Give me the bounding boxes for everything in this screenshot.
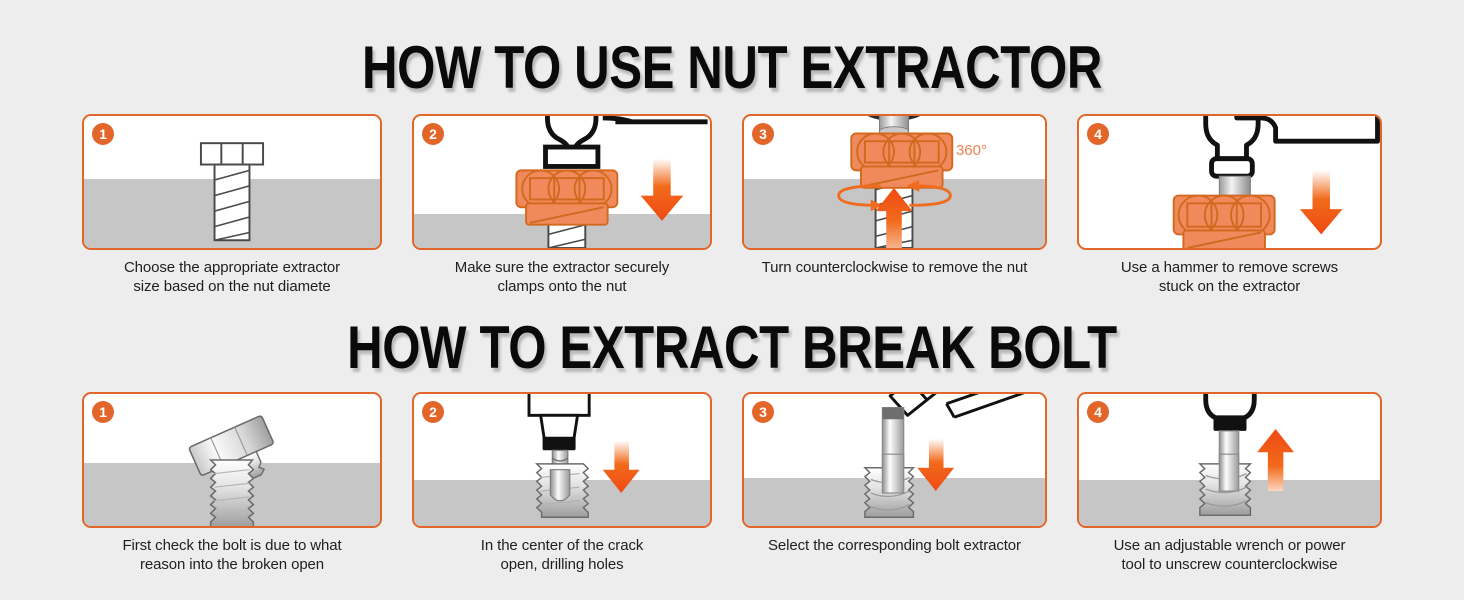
step-badge-4: 4 [1087,401,1109,423]
section-title-nut-extractor: HOW TO USE NUT EXTRACTOR [132,0,1332,98]
step-card-nut-1: 1 [82,114,382,297]
caption-line: clamps onto the nut [455,278,669,297]
extractor-socket-icon [516,170,617,224]
down-arrow-icon [1300,170,1343,234]
step-badge-3: 3 [752,401,774,423]
caption-line: stuck on the extractor [1121,278,1338,297]
step-illustration-nut-1: 1 [82,114,382,250]
bolt-extractor-icon [744,394,1045,526]
caption-line: size based on the nut diamete [124,278,340,297]
caption-line: Use an adjustable wrench or power [1114,537,1346,556]
step-badge-2: 2 [422,401,444,423]
panel-row-nut: 1 [0,114,1464,297]
step-caption-nut-3: Turn counterclockwise to remove the nut [762,259,1028,278]
caption-line: In the center of the crack [481,537,644,556]
step-card-bolt-1: 1 [82,392,382,575]
extractor-socket-icon [851,133,952,187]
down-arrow-icon [917,439,954,491]
step-illustration-bolt-1: 1 [82,392,382,528]
step-badge-1: 1 [92,401,114,423]
bolt-in-material-icon [84,116,380,248]
step-illustration-nut-4: 4 [1077,114,1382,250]
caption-line: Turn counterclockwise to remove the nut [762,259,1028,278]
step-card-nut-3: 3 360° [742,114,1047,297]
step-caption-nut-1: Choose the appropriate extractor size ba… [124,259,340,297]
step-card-bolt-2: 2 [412,392,712,575]
broken-bolt-icon [84,394,380,526]
drill-chuck-icon [414,394,710,526]
step-illustration-bolt-3: 3 [742,392,1047,528]
step-badge-2: 2 [422,123,444,145]
step-caption-nut-4: Use a hammer to remove screws stuck on t… [1121,259,1338,297]
caption-line: Select the corresponding bolt extractor [768,537,1021,556]
step-card-nut-4: 4 [1077,114,1382,297]
caption-line: Make sure the extractor securely [455,259,669,278]
down-arrow-icon [603,441,640,493]
wrench-grip-icon [1079,394,1380,526]
step-caption-bolt-3: Select the corresponding bolt extractor [768,537,1021,556]
up-arrow-icon [1257,429,1294,491]
section-break-bolt: HOW TO EXTRACT BREAK BOLT 1 [0,310,1464,600]
step-card-bolt-4: 4 [1077,392,1382,575]
rotation-degree-label: 360° [956,142,987,159]
panel-row-bolt: 1 [0,392,1464,575]
step-badge-3: 3 [752,123,774,145]
step-caption-bolt-2: In the center of the crack open, drillin… [481,537,644,575]
caption-line: First check the bolt is due to what [122,537,341,556]
step-caption-nut-2: Make sure the extractor securely clamps … [455,259,669,297]
step-caption-bolt-4: Use an adjustable wrench or power tool t… [1114,537,1346,575]
step-caption-bolt-1: First check the bolt is due to what reas… [122,537,341,575]
extractor-socket-icon [1174,196,1275,248]
section-nut-extractor: HOW TO USE NUT EXTRACTOR 1 [0,0,1464,310]
step-illustration-nut-3: 3 360° [742,114,1047,250]
step-card-bolt-3: 3 [742,392,1047,575]
caption-line: Use a hammer to remove screws [1121,259,1338,278]
step-illustration-bolt-4: 4 [1077,392,1382,528]
step-illustration-bolt-2: 2 [412,392,712,528]
caption-line: Choose the appropriate extractor [124,259,340,278]
caption-line: tool to unscrew counterclockwise [1114,556,1346,575]
section-title-break-bolt: HOW TO EXTRACT BREAK BOLT [132,310,1332,378]
down-arrow-icon [641,159,684,221]
caption-line: reason into the broken open [122,556,341,575]
step-badge-1: 1 [92,123,114,145]
hammer-icon [1079,116,1380,248]
socket-wrench-icon [414,116,710,248]
nut-rotation-icon [744,116,1045,248]
step-illustration-nut-2: 2 [412,114,712,250]
step-badge-4: 4 [1087,123,1109,145]
caption-line: open, drilling holes [481,556,644,575]
step-card-nut-2: 2 [412,114,712,297]
